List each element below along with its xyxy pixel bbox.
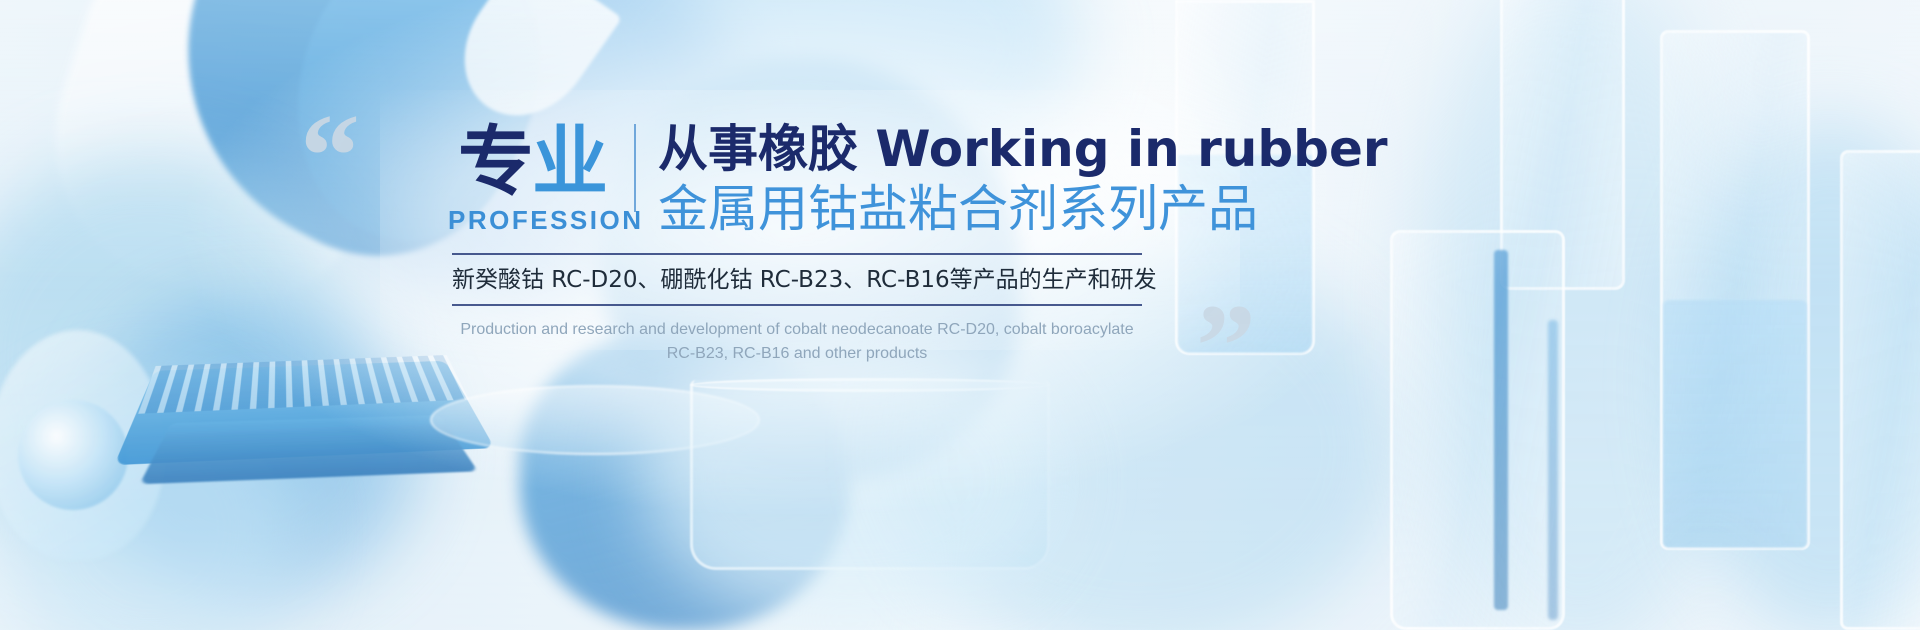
headline-secondary: 金属用钴盐粘合剂系列产品 (658, 180, 1388, 238)
logo-english-label: PROFESSION (448, 205, 616, 236)
vertical-divider (634, 124, 636, 212)
profession-logo: 专业 PROFESSION (448, 118, 616, 236)
headline-row: 专业 PROFESSION 从事橡胶 Working in rubber 金属用… (448, 118, 1388, 238)
title-group: 从事橡胶 Working in rubber 金属用钴盐粘合剂系列产品 (658, 118, 1388, 238)
logo-cjk-text: 专业 (448, 126, 616, 199)
divider-rule-bottom (452, 304, 1142, 306)
logo-char-secondary: 业 (532, 117, 606, 206)
products-line: 新癸酸钴 RC-D20、硼酰化钴 RC-B23、RC-B16等产品的生产和研发 (452, 262, 1142, 299)
hero-banner: “ ” 专业 PROFESSION 从事橡胶 Working in rubber… (0, 0, 1920, 630)
english-description: Production and research and development … (452, 318, 1142, 366)
divider-rule-top (452, 253, 1142, 255)
banner-content: 专业 PROFESSION 从事橡胶 Working in rubber 金属用… (0, 0, 1920, 630)
logo-char-primary: 专 (458, 117, 532, 206)
headline-primary: 从事橡胶 Working in rubber (658, 120, 1388, 178)
